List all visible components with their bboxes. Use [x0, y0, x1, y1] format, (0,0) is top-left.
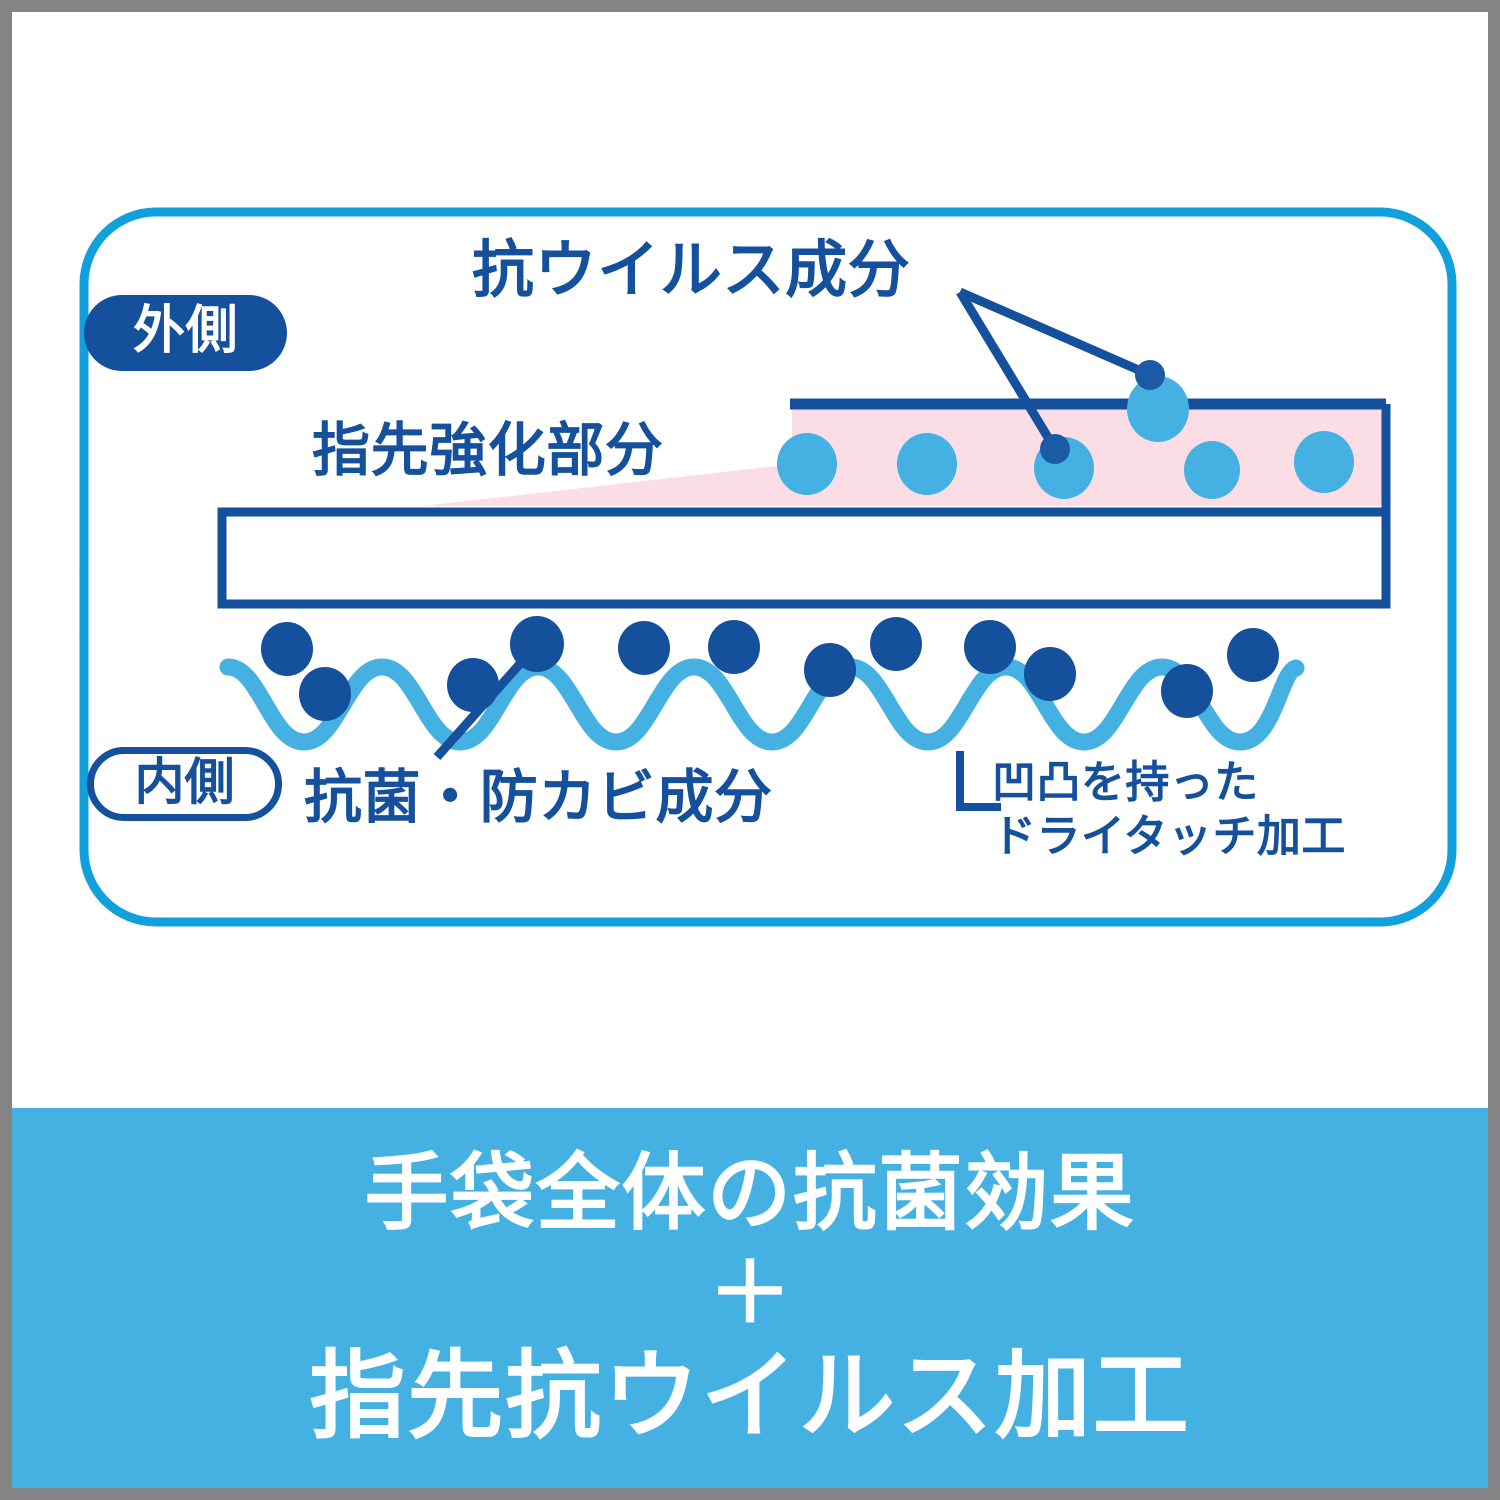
antibacterial-particle [1161, 664, 1213, 718]
plus-icon: ＋ [708, 1251, 792, 1335]
antibacterial-particle [964, 620, 1016, 674]
glove-body-rect [222, 512, 1386, 604]
badge-outside: 外側 [84, 295, 287, 371]
antiviral-particle [897, 433, 957, 495]
antibacterial-particle [299, 667, 351, 721]
badge-inside: 内側 [87, 747, 282, 821]
antibacterial-particle [708, 620, 760, 674]
antibacterial-particle [804, 643, 856, 697]
antiviral-particle [777, 433, 837, 495]
antiviral-particle [1294, 431, 1354, 493]
dry-touch-wave [228, 667, 1296, 742]
antibacterial-particle [447, 658, 499, 712]
antibacterial-particle [1227, 628, 1279, 682]
leader-endpoint-dot [1040, 434, 1070, 464]
badge-outside-label: 外側 [133, 305, 238, 357]
label-fingertip-reinforcement: 指先強化部分 [312, 422, 663, 480]
product-feature-infographic: 抗ウイルス成分 指先強化部分 抗菌・防カビ成分 凹凸を持った ドライタッチ加工 … [0, 0, 1500, 1500]
leader-endpoint-dot [1135, 360, 1165, 390]
antibacterial-particle [261, 622, 313, 676]
badge-inside-label: 内側 [135, 757, 235, 807]
label-antiviral-component: 抗ウイルス成分 [472, 240, 910, 302]
antibacterial-particle [870, 617, 922, 671]
banner-line-antibacterial-effect: 手袋全体の抗菌効果 [364, 1151, 1135, 1235]
label-dry-touch-finish: 凹凸を持った ドライタッチ加工 [992, 756, 1346, 863]
label-antibacterial-antimold: 抗菌・防カビ成分 [304, 769, 773, 827]
feature-summary-banner: 手袋全体の抗菌効果 ＋ 指先抗ウイルス加工 [12, 1108, 1488, 1488]
antiviral-particle [1184, 441, 1240, 499]
diagram-area: 抗ウイルス成分 指先強化部分 抗菌・防カビ成分 凹凸を持った ドライタッチ加工 … [12, 12, 1488, 1108]
antibacterial-particle [1024, 647, 1076, 701]
glove-cross-section-diagram [12, 12, 1488, 1108]
banner-line-antiviral-finish: 指先抗ウイルス加工 [309, 1349, 1190, 1445]
antibacterial-particle [618, 621, 670, 675]
